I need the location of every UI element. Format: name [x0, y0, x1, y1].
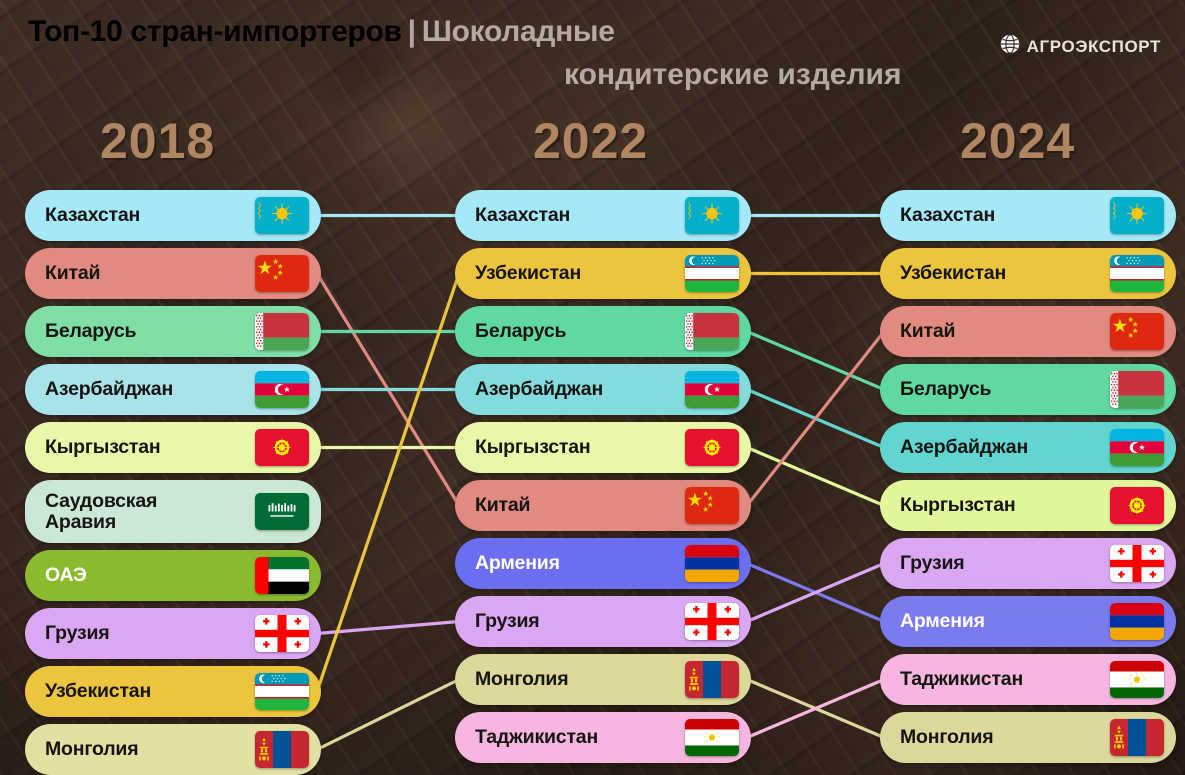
flag-sa-icon	[255, 493, 309, 530]
flow-line	[747, 448, 884, 506]
title-subtitle-line1: Шоколадные	[422, 15, 615, 48]
country-pill[interactable]: Таджикистан	[880, 654, 1176, 705]
country-pill[interactable]: Грузия	[25, 608, 321, 659]
ranking-column-2018: Казахстан Китай Беларусь	[25, 190, 321, 775]
country-pill[interactable]: Грузия	[880, 538, 1176, 589]
country-name: Беларусь	[475, 321, 685, 342]
flag-kz-icon	[685, 197, 739, 234]
country-name: Казахстан	[900, 205, 1110, 226]
flag-uz-icon	[1110, 255, 1164, 292]
flag-by-icon	[1110, 371, 1164, 408]
country-pill[interactable]: Китай	[455, 480, 751, 531]
country-pill[interactable]: Монголия	[455, 654, 751, 705]
flag-uz-icon	[685, 255, 739, 292]
flag-ge-icon	[685, 603, 739, 640]
flag-mn-icon	[1110, 719, 1164, 756]
flag-ae-icon	[255, 557, 309, 594]
flag-kz-icon	[1110, 197, 1164, 234]
country-name: Монголия	[475, 669, 685, 690]
country-name: Беларусь	[45, 321, 255, 342]
country-pill[interactable]: Грузия	[455, 596, 751, 647]
flag-mn-icon	[255, 731, 309, 768]
country-pill[interactable]: Кыргызстан	[25, 422, 321, 473]
country-pill[interactable]: Монголия	[25, 724, 321, 775]
flag-cn-icon	[1110, 313, 1164, 350]
flag-by-icon	[685, 313, 739, 350]
country-pill[interactable]: Узбекистан	[455, 248, 751, 299]
flag-cn-icon	[255, 255, 309, 292]
flow-line	[747, 680, 884, 738]
country-pill[interactable]: Армения	[455, 538, 751, 589]
country-name: Узбекистан	[45, 681, 255, 702]
flag-az-icon	[1110, 429, 1164, 466]
country-name: Китай	[45, 263, 255, 284]
flag-az-icon	[685, 371, 739, 408]
country-name: Азербайджан	[900, 437, 1110, 458]
country-pill[interactable]: Беларусь	[25, 306, 321, 357]
brand-logo: АГРОЭКСПОРТ	[1000, 34, 1161, 59]
title-subtitle-line2: кондитерские изделия	[564, 58, 902, 92]
country-name: Узбекистан	[475, 263, 685, 284]
country-pill[interactable]: Азербайджан	[880, 422, 1176, 473]
country-name: Казахстан	[475, 205, 685, 226]
flow-line	[317, 622, 459, 634]
country-pill[interactable]: Китай	[880, 306, 1176, 357]
country-name: Кыргызстан	[475, 437, 685, 458]
country-pill[interactable]: Казахстан	[455, 190, 751, 241]
flag-az-icon	[255, 371, 309, 408]
year-heading-2022: 2022	[533, 112, 648, 170]
year-heading-2024: 2024	[960, 112, 1075, 170]
country-name: Грузия	[900, 553, 1110, 574]
flag-mn-icon	[685, 661, 739, 698]
country-name: Таджикистан	[900, 669, 1110, 690]
country-name: Китай	[475, 495, 685, 516]
country-name: Монголия	[900, 727, 1110, 748]
flag-am-icon	[1110, 603, 1164, 640]
flow-line	[317, 274, 459, 692]
flag-kg-icon	[1110, 487, 1164, 524]
flag-cn-icon	[685, 487, 739, 524]
country-pill[interactable]: Монголия	[880, 712, 1176, 763]
country-name: Кыргызстан	[900, 495, 1110, 516]
flow-line	[747, 564, 884, 622]
flag-tj-icon	[1110, 661, 1164, 698]
country-name: Кыргызстан	[45, 437, 255, 458]
country-name: Грузия	[45, 623, 255, 644]
flow-line	[747, 564, 884, 622]
flag-kg-icon	[685, 429, 739, 466]
flag-by-icon	[255, 313, 309, 350]
ranking-column-2022: Казахстан Узбекистан	[455, 190, 751, 770]
country-pill[interactable]: Казахстан	[880, 190, 1176, 241]
country-name: Армения	[475, 553, 685, 574]
country-name: Азербайджан	[45, 379, 255, 400]
flag-ge-icon	[1110, 545, 1164, 582]
flag-kz-icon	[255, 197, 309, 234]
title-main: Топ-10 стран-импортеров	[28, 15, 402, 48]
logo-text: АГРОЭКСПОРТ	[1027, 37, 1161, 57]
country-name: Китай	[900, 321, 1110, 342]
country-pill[interactable]: Беларусь	[880, 364, 1176, 415]
flow-line	[317, 680, 459, 750]
country-pill[interactable]: Узбекистан	[25, 666, 321, 717]
flow-line	[747, 332, 884, 506]
country-name: Таджикистан	[475, 727, 685, 748]
infographic-root: Топ-10 стран-импортеров|Шоколадные конди…	[0, 0, 1185, 775]
flow-line	[747, 680, 884, 738]
country-pill[interactable]: Армения	[880, 596, 1176, 647]
country-pill[interactable]: ОАЭ	[25, 550, 321, 601]
flag-ge-icon	[255, 615, 309, 652]
flag-uz-icon	[255, 673, 309, 710]
country-pill[interactable]: Казахстан	[25, 190, 321, 241]
country-pill[interactable]: Кыргызстан	[455, 422, 751, 473]
country-pill[interactable]: Китай	[25, 248, 321, 299]
title-separator: |	[402, 15, 422, 48]
flow-line	[317, 274, 459, 506]
year-heading-2018: 2018	[100, 112, 215, 170]
country-name: Узбекистан	[900, 263, 1110, 284]
country-pill[interactable]: Саудовская Аравия	[25, 480, 321, 543]
flag-tj-icon	[685, 719, 739, 756]
flag-kg-icon	[255, 429, 309, 466]
country-name: Саудовская Аравия	[45, 491, 255, 533]
country-name: Казахстан	[45, 205, 255, 226]
flow-line	[747, 390, 884, 448]
country-name: Азербайджан	[475, 379, 685, 400]
country-name: Беларусь	[900, 379, 1110, 400]
flag-am-icon	[685, 545, 739, 582]
country-pill[interactable]: Азербайджан	[25, 364, 321, 415]
flow-line	[747, 332, 884, 390]
country-pill[interactable]: Узбекистан	[880, 248, 1176, 299]
country-pill[interactable]: Таджикистан	[455, 712, 751, 763]
country-name: Монголия	[45, 739, 255, 760]
country-pill[interactable]: Беларусь	[455, 306, 751, 357]
country-name: ОАЭ	[45, 565, 255, 586]
header: Топ-10 стран-импортеров|Шоколадные конди…	[28, 14, 1173, 94]
ranking-column-2024: Казахстан Узбекистан	[880, 190, 1176, 770]
country-name: Грузия	[475, 611, 685, 632]
country-name: Армения	[900, 611, 1110, 632]
globe-icon	[1000, 34, 1020, 59]
country-pill[interactable]: Азербайджан	[455, 364, 751, 415]
country-pill[interactable]: Кыргызстан	[880, 480, 1176, 531]
